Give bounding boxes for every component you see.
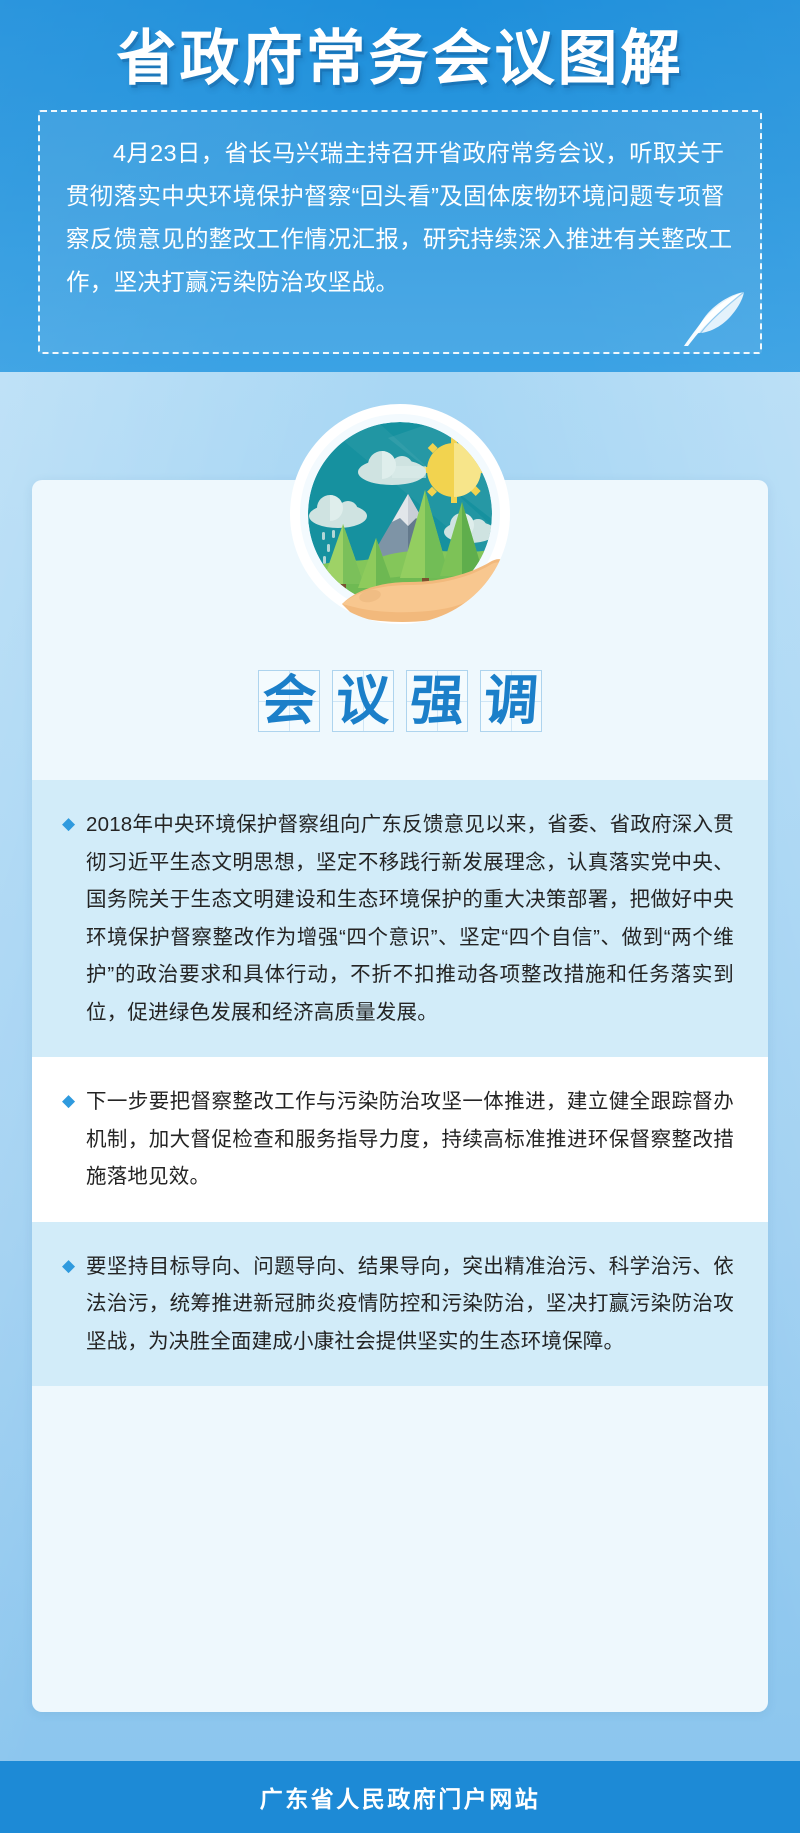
diamond-bullet-icon: ◆	[62, 815, 86, 832]
heading-char-4: 调	[482, 672, 540, 730]
section-heading: 会 议 强 调	[32, 670, 768, 732]
footer-site-name: 广东省人民政府门户网站	[260, 1780, 541, 1814]
list-item: ◆ 要坚持目标导向、问题导向、结果导向，突出精准治污、科学治污、依法治污，统筹推…	[32, 1222, 768, 1387]
intro-summary-text: 4月23日，省长马兴瑞主持召开省政府常务会议，听取关于贯彻落实中央环境保护督察“…	[66, 132, 734, 304]
list-item: ◆ 2018年中央环境保护督察组向广东反馈意见以来，省委、省政府深入贯彻习近平生…	[32, 780, 768, 1057]
heading-char-3: 强	[408, 672, 466, 730]
heading-char-1: 会	[260, 672, 318, 730]
heading-char-cell-4: 调	[480, 670, 542, 732]
diamond-bullet-icon: ◆	[62, 1092, 86, 1109]
bullet-list: ◆ 2018年中央环境保护督察组向广东反馈意见以来，省委、省政府深入贯彻习近平生…	[32, 780, 768, 1386]
list-item-text: 要坚持目标导向、问题导向、结果导向，突出精准治污、科学治污、依法治污，统筹推进新…	[86, 1248, 734, 1361]
list-item: ◆ 下一步要把督察整改工作与污染防治攻坚一体推进，建立健全跟踪督办机制，加大督促…	[32, 1057, 768, 1222]
heading-gap-spacer	[32, 732, 768, 780]
intro-summary-box: 4月23日，省长马兴瑞主持召开省政府常务会议，听取关于贯彻落实中央环境保护督察“…	[38, 110, 762, 354]
heading-char-cell-2: 议	[332, 670, 394, 732]
card-bottom-spacer	[32, 1386, 768, 1458]
heading-char-cell-1: 会	[258, 670, 320, 732]
eco-nature-in-hand-icon	[284, 398, 516, 630]
heading-char-2: 议	[334, 672, 392, 730]
list-item-text: 2018年中央环境保护督察组向广东反馈意见以来，省委、省政府深入贯彻习近平生态文…	[86, 806, 734, 1031]
heading-char-cell-3: 强	[406, 670, 468, 732]
page-footer: 广东省人民政府门户网站	[0, 1761, 800, 1833]
page-title: 省政府常务会议图解	[0, 0, 800, 95]
list-item-text: 下一步要把督察整改工作与污染防治攻坚一体推进，建立健全跟踪督办机制，加大督促检查…	[86, 1083, 734, 1196]
main-body: 会 议 强 调 ◆ 2018年中央环境保护督察组向广东反馈意见以来，省委、省政府…	[0, 372, 800, 1761]
page-header: 省政府常务会议图解 4月23日，省长马兴瑞主持召开省政府常务会议，听取关于贯彻落…	[0, 0, 800, 372]
content-card: 会 议 强 调 ◆ 2018年中央环境保护督察组向广东反馈意见以来，省委、省政府…	[32, 480, 768, 1712]
diamond-bullet-icon: ◆	[62, 1257, 86, 1274]
